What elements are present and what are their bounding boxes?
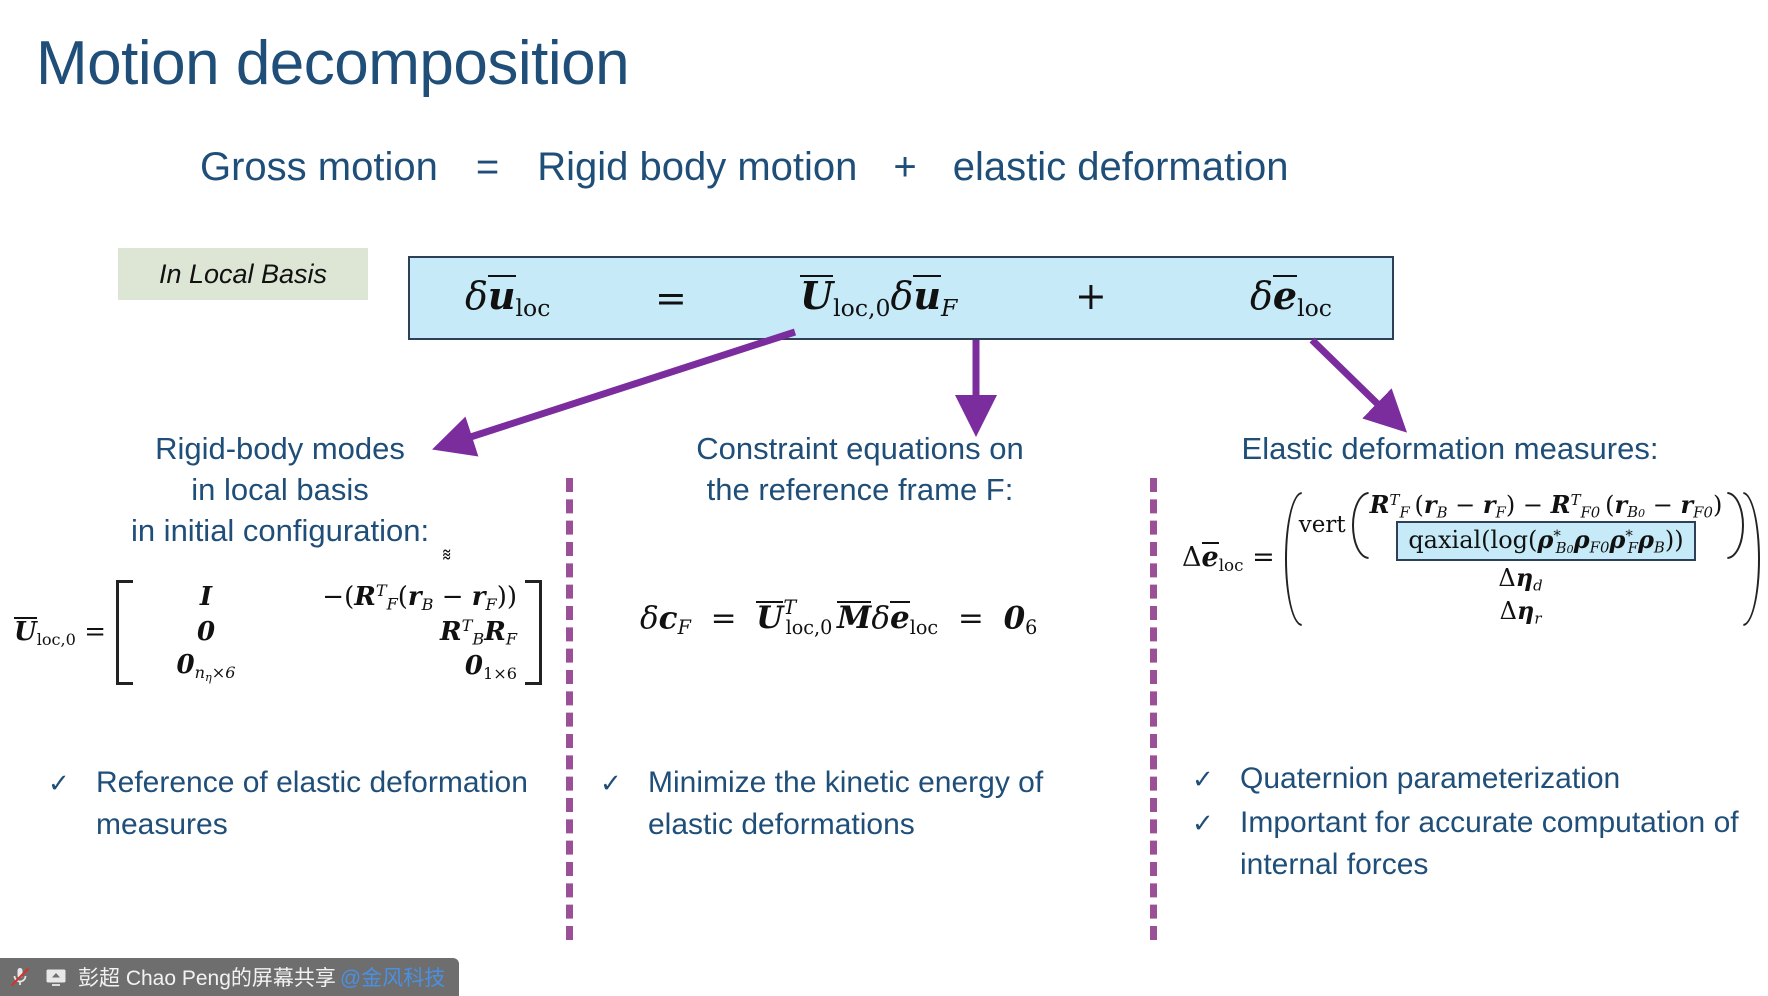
main-eq-term2: δeloc [1250, 274, 1332, 322]
column-1-bullets: ✓ Reference of elastic deformation measu… [48, 762, 548, 848]
headline-left: Gross motion [200, 145, 438, 189]
matrix-cell-1-2: −(RTF̃̃̃(rB − rF)) [279, 580, 525, 615]
main-eq-equals: = [655, 276, 687, 320]
main-equation-row: δuloc = Uloc,0δuF + δeloc [410, 258, 1392, 338]
column-3-bullets: ✓ Quaternion parameterization ✓ Importan… [1192, 758, 1752, 888]
column-3-heading-line-1: Elastic deformation measures: [1180, 428, 1720, 469]
column-divider-1 [566, 478, 573, 940]
inner-paren-right [1726, 490, 1742, 561]
matrix-body: I −(RTF̃̃̃(rB − rF)) 0 RTBRF 0nη×6 01×6 [133, 580, 525, 685]
column-2-heading-line-1: Constraint equations on [620, 428, 1100, 469]
presenter-label: 彭超 Chao Peng的屏幕共享 [78, 962, 336, 992]
column-2-heading: Constraint equations on the reference fr… [620, 428, 1100, 510]
matrix-row-1: I −(RTF̃̃̃(rB − rF)) [133, 580, 525, 615]
column-1-heading-line-1: Rigid-body modes [30, 428, 530, 469]
bullet-text: Minimize the kinetic energy of elastic d… [648, 762, 1100, 846]
column-2-heading-line-2: the reference frame F: [620, 469, 1100, 510]
matrix-row-3: 0nη×6 01×6 [133, 649, 525, 685]
main-eq-term1: Uloc,0δuF [800, 274, 957, 322]
screen-share-status-bar[interactable]: 彭超 Chao Peng的屏幕共享 @金风科技 [0, 958, 459, 996]
qaxial-highlight-box: qaxial(log(ρ*B0ρF0ρ*FρB)) [1396, 521, 1695, 560]
headline-row: Gross motion=Rigid body motion+elastic d… [200, 145, 1660, 190]
column-3-stack: vert RTF (rB − rF) − RTF0 (rB0 − rF0) qa… [1299, 490, 1743, 628]
column-1-heading-line-2: in local basis [30, 469, 530, 510]
main-eq-plus: + [1075, 274, 1107, 318]
column-1-heading: Rigid-body modes in local basis in initi… [30, 428, 530, 551]
matrix-bracket-left [116, 580, 133, 685]
matrix-cell-3-2: 01×6 [279, 649, 525, 685]
headline-plus: + [857, 145, 952, 189]
column-1-formula-lhs: Uloc,0 = [14, 617, 106, 649]
headline-equals: = [438, 145, 537, 189]
headline-right: elastic deformation [953, 145, 1289, 189]
bullet-text: Quaternion parameterization [1240, 758, 1752, 800]
column-divider-2 [1150, 478, 1157, 940]
matrix-cell-2-1: 0 [133, 615, 279, 650]
outer-paren-right [1742, 490, 1758, 628]
bullet-item: ✓ Quaternion parameterization [1192, 758, 1752, 800]
outer-paren-left [1283, 490, 1299, 628]
eta-r-row: Δηr [1500, 596, 1542, 627]
inner-paren-left [1350, 490, 1366, 561]
bullet-item: ✓ Reference of elastic deformation measu… [48, 762, 548, 846]
column-2-bullets: ✓ Minimize the kinetic energy of elastic… [600, 762, 1100, 848]
screen-share-icon[interactable] [42, 963, 70, 991]
page-title: Motion decomposition [36, 28, 629, 99]
bullet-text: Reference of elastic deformation measure… [96, 762, 548, 846]
column-1-formula: Uloc,0 = I −(RTF̃̃̃(rB − rF)) 0 RTBRF 0n… [14, 580, 542, 685]
check-icon: ✓ [1192, 758, 1240, 800]
column-2-formula: δcF = UTloc,0Mδeloc = 06 [640, 596, 1037, 639]
check-icon: ✓ [600, 762, 648, 804]
matrix-cell-2-2: RTBRF [279, 615, 525, 650]
bullet-item: ✓ Important for accurate computation of … [1192, 802, 1752, 886]
column-3-heading: Elastic deformation measures: [1180, 428, 1720, 469]
headline-middle: Rigid body motion [537, 145, 857, 189]
matrix-cell-1-1: I [133, 580, 279, 615]
main-eq-lhs: δuloc [465, 274, 550, 322]
bullet-item: ✓ Minimize the kinetic energy of elastic… [600, 762, 1100, 846]
presenter-handle: @金风科技 [340, 962, 445, 992]
vert-row: vert RTF (rB − rF) − RTF0 (rB0 − rF0) qa… [1299, 490, 1743, 561]
matrix-bracket-right [525, 580, 542, 685]
main-equation-box: δuloc = Uloc,0δuF + δeloc [408, 256, 1394, 340]
fraction-stack: RTF (rB − rF) − RTF0 (rB0 − rF0) qaxial(… [1366, 490, 1727, 561]
slide-canvas: Motion decomposition Gross motion=Rigid … [0, 0, 1768, 996]
check-icon: ✓ [1192, 802, 1240, 844]
fraction-numerator: RTF (rB − rF) − RTF0 (rB0 − rF0) [1366, 490, 1727, 521]
column-3-formula: Δeloc = vert RTF (rB − rF) − RTF0 (rB0 −… [1182, 490, 1758, 628]
vert-label: vert [1299, 512, 1346, 538]
arrow-to-rigid-body [452, 332, 795, 443]
column-1-heading-line-3: in initial configuration: [30, 510, 530, 551]
matrix-cell-3-1: 0nη×6 [133, 649, 279, 685]
local-basis-tag: In Local Basis [118, 248, 368, 300]
microphone-muted-icon[interactable] [6, 963, 34, 991]
bullet-text: Important for accurate computation of in… [1240, 802, 1752, 886]
arrow-to-elastic [1312, 340, 1392, 418]
check-icon: ✓ [48, 762, 96, 804]
eta-d-row: Δηd [1498, 563, 1542, 594]
column-3-formula-lhs: Δeloc = [1182, 542, 1275, 575]
matrix-row-2: 0 RTBRF [133, 615, 525, 650]
